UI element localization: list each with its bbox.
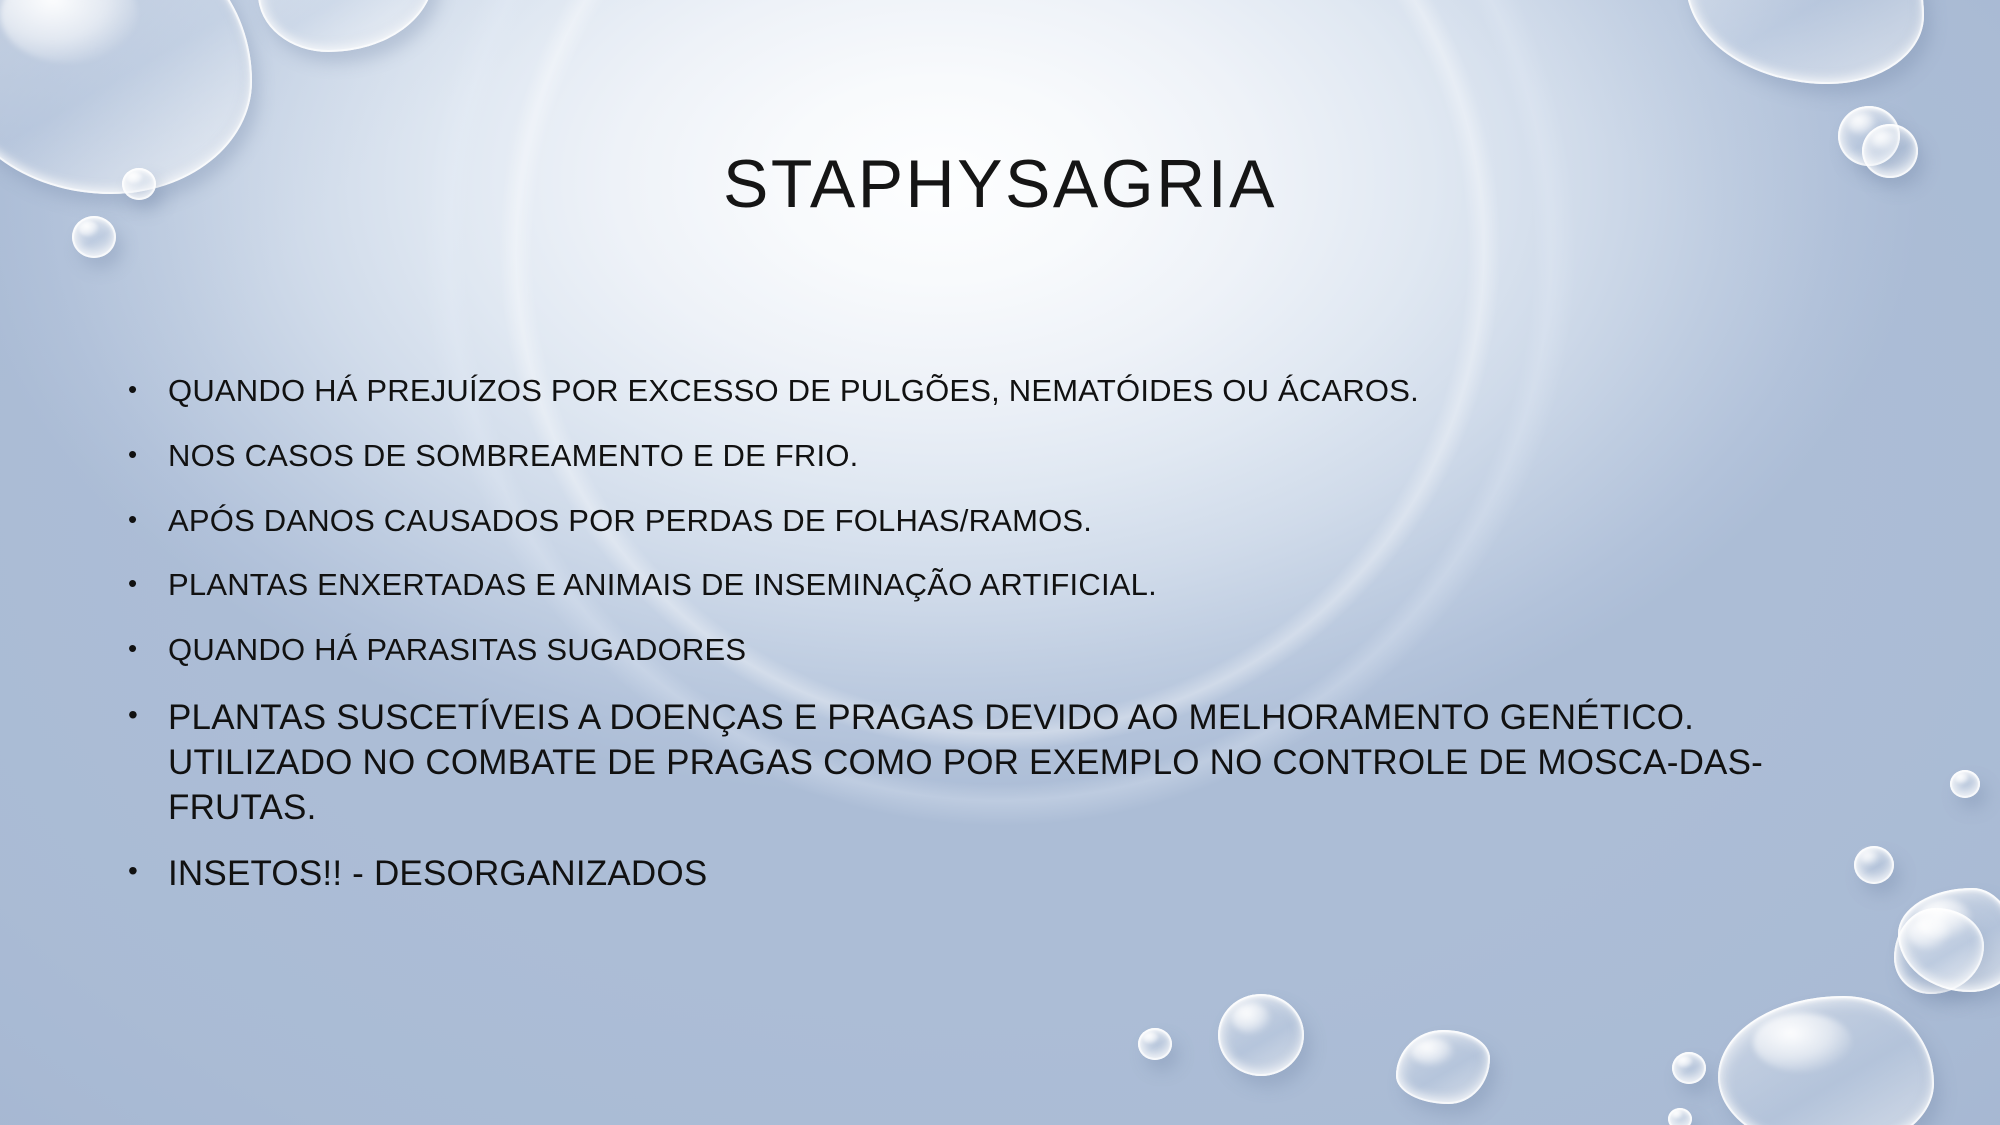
list-item: • PLANTAS SUSCETÍVEIS A DOENÇAS E PRAGAS… [128,696,1888,830]
list-item-label: NOS CASOS DE SOMBREAMENTO E DE FRIO. [168,437,1888,475]
list-item-label: INSETOS!! - DESORGANIZADOS [168,852,1888,897]
list-item: • NOS CASOS DE SOMBREAMENTO E DE FRIO. [128,437,1888,475]
list-item-label: PLANTAS ENXERTADAS E ANIMAIS DE INSEMINA… [168,566,1888,604]
slide-title: STAPHYSAGRIA [0,148,2000,220]
bullet-marker-icon: • [128,372,168,406]
bullet-marker-icon: • [128,566,168,600]
presentation-slide: STAPHYSAGRIA • QUANDO HÁ PREJUÍZOS POR E… [0,0,2000,1125]
droplet-icon-br-tiny-b [1668,1108,1692,1125]
list-item: • QUANDO HÁ PREJUÍZOS POR EXCESSO DE PUL… [128,372,1888,410]
droplet-icon-br-tiny-a [1672,1052,1706,1084]
droplet-icon-bc-small [1138,1028,1172,1060]
bullet-marker-icon: • [128,437,168,471]
list-item-label: PLANTAS SUSCETÍVEIS A DOENÇAS E PRAGAS D… [168,696,1888,830]
list-item-label: APÓS DANOS CAUSADOS POR PERDAS DE FOLHAS… [168,502,1888,540]
droplet-icon-bc-medium [1218,994,1304,1076]
list-item: • PLANTAS ENXERTADAS E ANIMAIS DE INSEMI… [128,566,1888,604]
slide-body-content: • QUANDO HÁ PREJUÍZOS POR EXCESSO DE PUL… [128,372,1888,897]
bullet-marker-icon: • [128,631,168,665]
bullet-marker-icon: • [128,696,168,732]
droplet-icon-br-edge [1950,770,1980,798]
droplet-icon-tl-small-b [72,216,116,258]
list-item: • APÓS DANOS CAUSADOS POR PERDAS DE FOLH… [128,502,1888,540]
bullet-marker-icon: • [128,852,168,888]
list-item-label: QUANDO HÁ PREJUÍZOS POR EXCESSO DE PULGÕ… [168,372,1888,410]
list-item: • INSETOS!! - DESORGANIZADOS [128,852,1888,897]
bullet-marker-icon: • [128,502,168,536]
list-item-label: QUANDO HÁ PARASITAS SUGADORES [168,631,1888,669]
list-item: • QUANDO HÁ PARASITAS SUGADORES [128,631,1888,669]
